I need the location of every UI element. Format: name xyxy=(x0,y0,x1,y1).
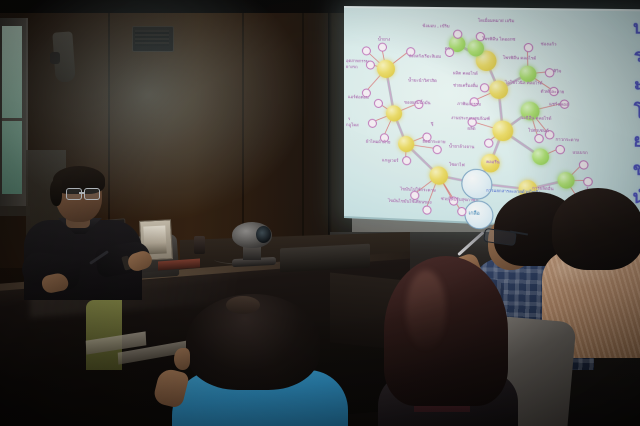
concept-node xyxy=(386,105,402,122)
concept-map-label: โพรพิลีน ไดออกซ xyxy=(482,36,515,42)
attendee-longhair-person xyxy=(384,256,508,426)
concept-map-label: ภาพิมลกรรม xyxy=(457,101,481,107)
concept-node xyxy=(558,172,575,189)
concept-map-label: กลูโคส xyxy=(346,122,359,127)
concept-leaf-node xyxy=(457,207,466,217)
glasses-icon xyxy=(66,188,82,200)
concept-leaf-node xyxy=(433,145,442,154)
concept-leaf-node xyxy=(362,46,371,55)
concept-leaf-node xyxy=(402,156,411,165)
concept-map-label: ข้อมอบ , เข้ริม xyxy=(422,23,449,28)
glasses-icon xyxy=(84,188,100,200)
concept-leaf-node xyxy=(480,83,489,92)
concept-node xyxy=(532,148,549,165)
attendee-blue-person xyxy=(172,294,348,426)
concept-leaf-node xyxy=(378,43,387,52)
concept-leaf-node xyxy=(583,177,593,187)
concept-leaf-node xyxy=(555,145,565,155)
concept-map-label: ไขมันไปใช้กระดาษ xyxy=(400,186,436,192)
av-console xyxy=(280,244,370,273)
concept-leaf-node xyxy=(422,205,431,215)
concept-map-label: น้ำยาล้างจาน xyxy=(449,143,474,149)
concept-map-label: ไอโซไวนิล คลอไรด์ xyxy=(505,80,543,86)
concept-map-label: แกลูเวอร์ xyxy=(382,157,398,163)
concept-map-label: แอร์ต่อตอน xyxy=(348,94,369,100)
concept-map-label: ไขมันไขมันใช้เทียนของ xyxy=(388,198,432,205)
concept-map-label: ช่องแก้ว xyxy=(541,41,557,46)
concept-map-label: ช่องสกังเรือะสิเอม xyxy=(408,53,441,59)
concept-node xyxy=(492,120,513,141)
concept-map-label: โพรพิลีน คลอไรด์ xyxy=(503,55,536,61)
concept-node xyxy=(377,60,395,79)
concept-map-label: ร xyxy=(348,116,350,121)
concept-map-label: ชู xyxy=(431,121,434,126)
presenter-hair-side xyxy=(50,180,62,206)
concept-map-label: ตร xyxy=(445,46,450,51)
concept-map-label: ผ้าไหมผ้าฝ้าย xyxy=(366,139,391,145)
glasses-bridge xyxy=(79,192,85,194)
concept-node xyxy=(430,166,448,185)
concept-map-label: อุตสาหกรรม xyxy=(346,58,369,63)
concept-map-label: ช่วยให้ปรับสุขภาพ xyxy=(441,196,475,203)
attendee-ear xyxy=(174,348,190,370)
concept-leaf-node xyxy=(374,99,383,108)
concept-map-label: แชร์ฉลอง xyxy=(549,101,568,107)
concept-map-label: ศิวิจ xyxy=(553,68,561,73)
concept-map-label: ของผสมน้ำมัน xyxy=(404,100,430,106)
concept-map-label: ย้อมกระดาษ xyxy=(422,138,445,144)
concept-map-label: ผลิต คลอไรด์ xyxy=(453,70,478,76)
concept-node xyxy=(468,40,485,57)
concept-map-label: โดเมื่อมหมาย่ เจริม xyxy=(478,18,514,24)
concept-leaf-node xyxy=(484,138,493,148)
camera-lens-icon xyxy=(256,226,271,243)
mug xyxy=(194,236,205,254)
concept-map-label: แบเบรก xyxy=(572,150,587,156)
concept-map-label: งานประกอบสุขภัณฑ์ xyxy=(451,115,490,121)
concept-map-label: น้ำยาง xyxy=(378,37,390,42)
concept-map-label: น้ำมะนำวิศาสิต xyxy=(408,77,437,83)
concept-map-label: โปตรเซนต์ xyxy=(528,127,549,133)
presenter-person xyxy=(22,168,154,296)
concept-leaf-node xyxy=(579,160,589,170)
hair-highlight xyxy=(406,270,446,350)
concept-leaf-node xyxy=(524,43,533,52)
concept-leaf-node xyxy=(534,134,544,144)
attendee-hair xyxy=(552,188,640,270)
concept-map-label: ผลิต xyxy=(468,126,476,131)
attendee-hair xyxy=(384,256,508,406)
concept-map-label: กาวกระดาษ xyxy=(555,137,579,143)
concept-map-label: เอธิลีน คลอไรด์ xyxy=(522,115,552,121)
concept-map-label: ตัวทำละลาย xyxy=(541,89,565,95)
concept-map-label: ช่วยเครื่องดื่ม xyxy=(453,82,478,88)
concept-map-label: โซดาไฟ xyxy=(449,162,465,168)
hair-part xyxy=(226,296,260,314)
concept-node xyxy=(398,136,414,153)
concept-map-label: คลอรีน xyxy=(486,159,500,165)
concept-map-label: ยางรถ xyxy=(346,64,358,69)
screenshot-root: เกลือน้ำยางอุตสาหกรรมยางรถแอร์ต่อตอนรกลู… xyxy=(0,0,640,426)
concept-leaf-node xyxy=(453,30,462,39)
concept-leaf-node xyxy=(368,119,377,128)
